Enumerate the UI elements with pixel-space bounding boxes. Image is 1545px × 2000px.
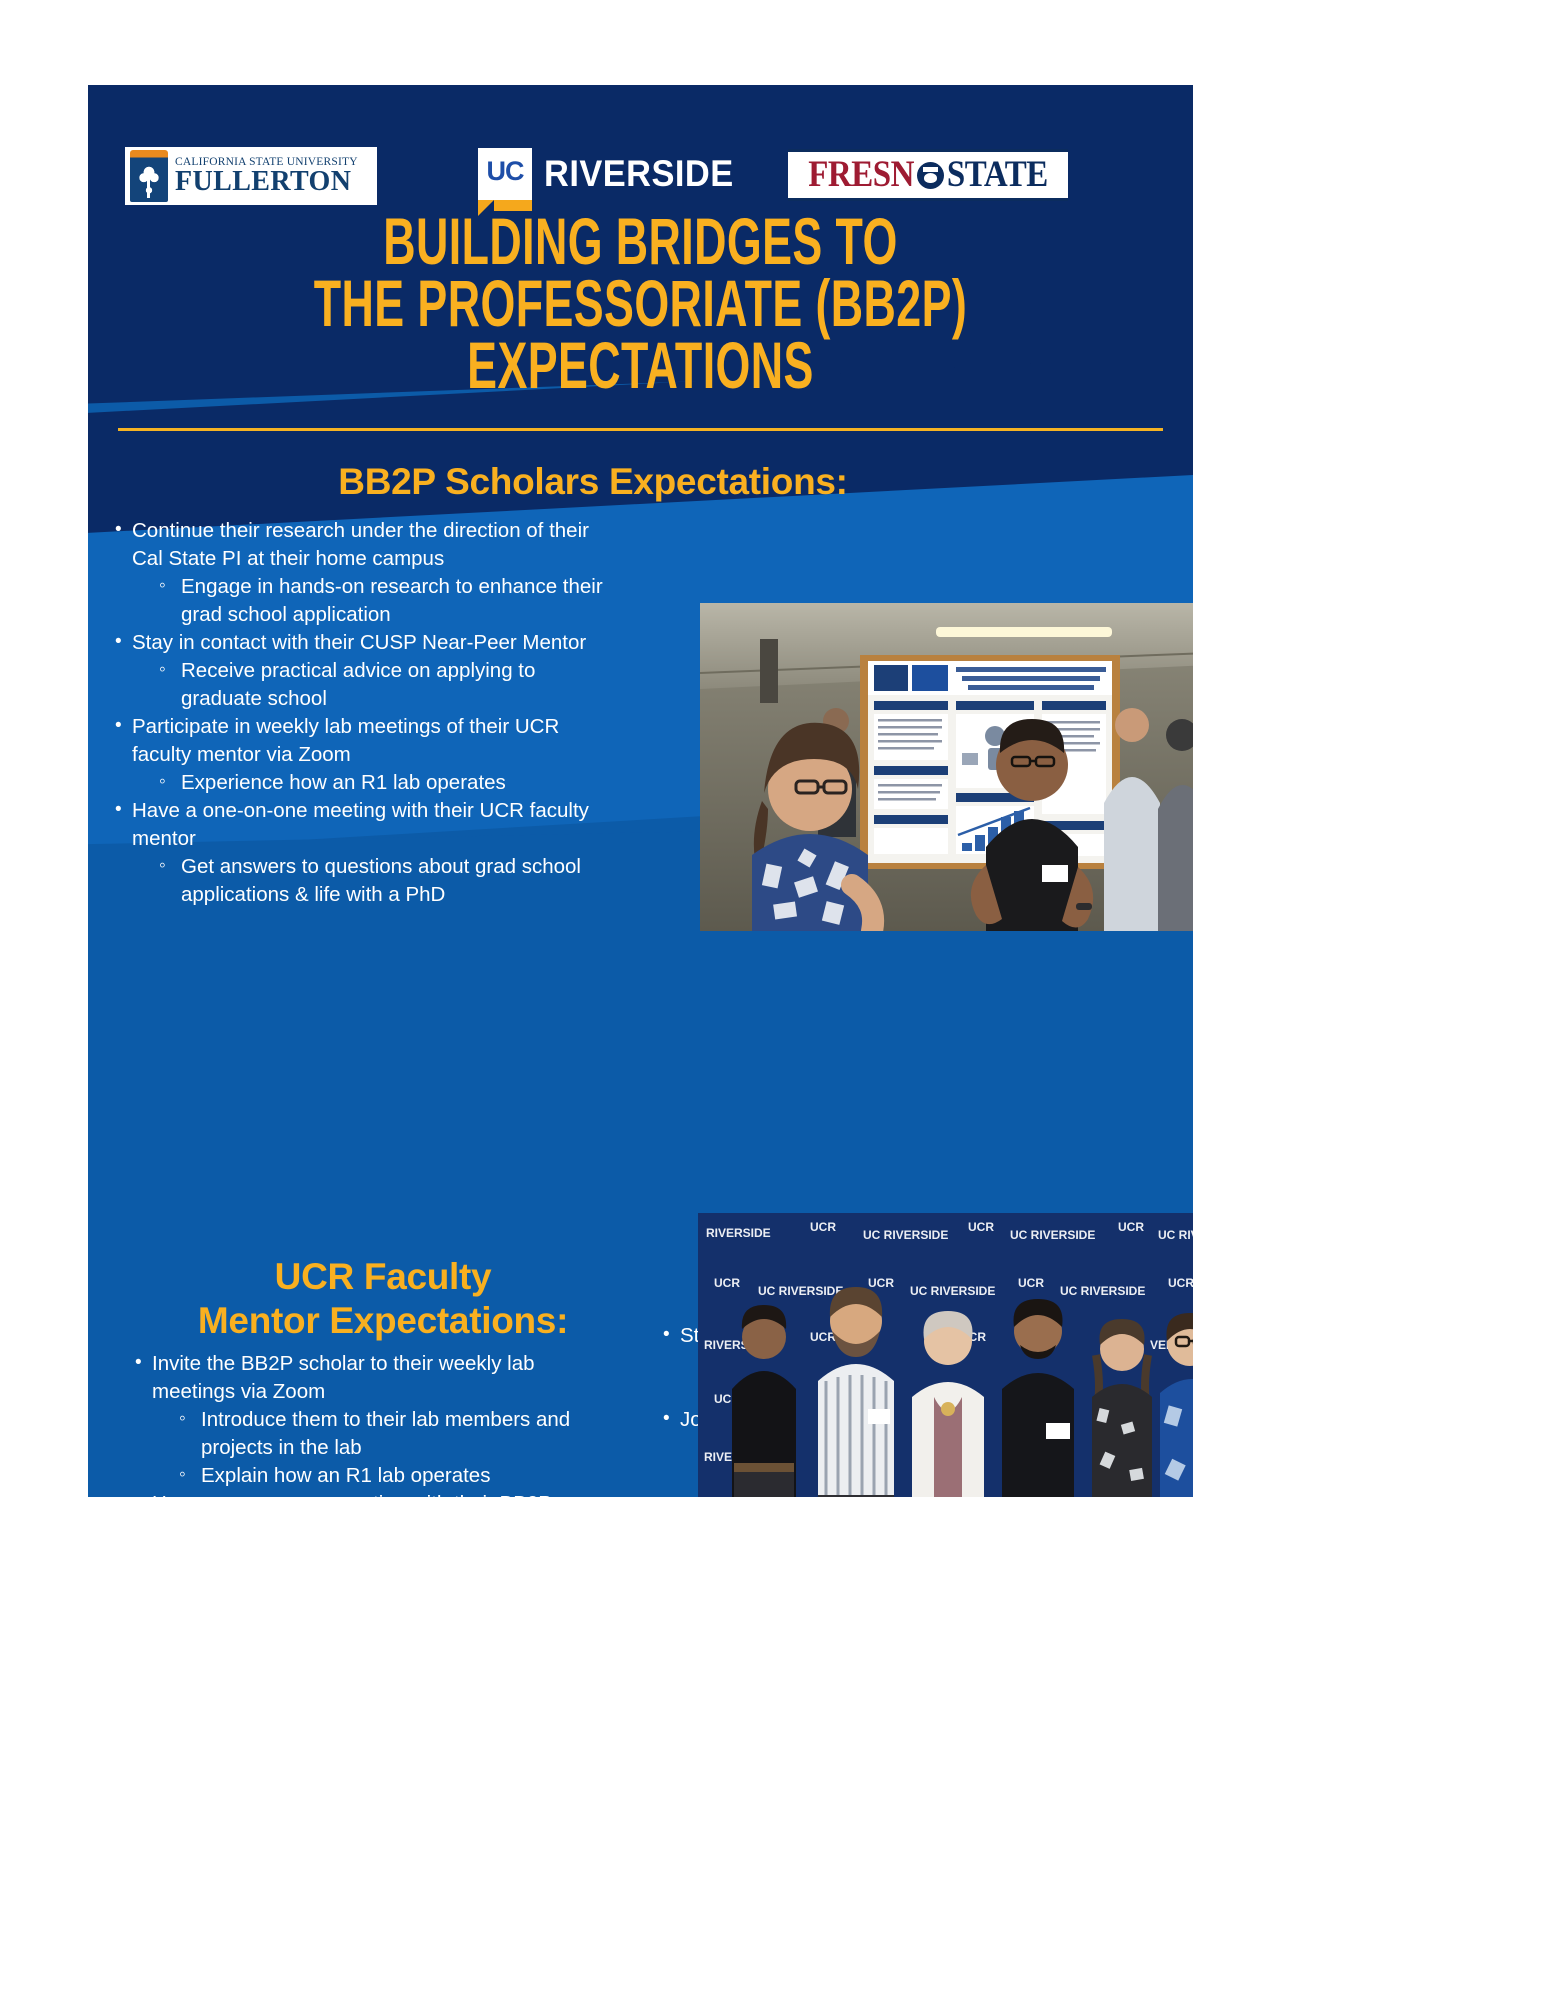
list-item-text: Participate in weekly lab meetings of th… xyxy=(132,715,559,766)
list-item-text: Stay in contact with their CUSP Near-Pee… xyxy=(132,631,586,654)
svg-text:UC RIVERSIDE: UC RIVERSIDE xyxy=(758,1284,843,1298)
photo-group-backdrop: RIVERSIDE UCR UC RIVERSIDE UCR UC RIVERS… xyxy=(698,1213,1193,1497)
list-item: Continue their research under the direct… xyxy=(110,517,622,629)
sub-bullet-list: Introduce them to their lab members and … xyxy=(174,1406,600,1490)
fresno-text-before: FRESN xyxy=(808,154,914,195)
logo-cal-state-fullerton: CALIFORNIA STATE UNIVERSITY FULLERTON xyxy=(125,147,377,205)
svg-text:UC RIVERSIDE: UC RIVERSIDE xyxy=(910,1284,995,1298)
svg-text:RIVERSIDE: RIVERSIDE xyxy=(706,1226,771,1240)
list-item-text: Have a one-on-one meeting with their UCR… xyxy=(132,799,589,850)
list-item: Get answers to questions about grad scho… xyxy=(154,853,622,909)
list-item: Invite the BB2P scholar to their weekly … xyxy=(130,1350,600,1490)
fresno-text-after: STATE xyxy=(947,154,1048,195)
svg-text:UC RIVERSIDE: UC RIVERSIDE xyxy=(863,1228,948,1242)
svg-text:UC RIVERSIDE: UC RIVERSIDE xyxy=(1158,1228,1193,1242)
csuf-wordmark: CALIFORNIA STATE UNIVERSITY FULLERTON xyxy=(175,156,358,196)
sub-bullet-list: Experience how an R1 lab operates xyxy=(154,769,622,797)
list-item: Explain how an R1 lab operates xyxy=(174,1462,600,1490)
list-item: Stay in contact with their CUSP Near-Pee… xyxy=(110,629,622,713)
svg-text:UCR: UCR xyxy=(868,1276,894,1290)
csuf-tree-crest-icon xyxy=(130,150,168,202)
poster-canvas: CALIFORNIA STATE UNIVERSITY FULLERTON UC… xyxy=(88,85,1193,1497)
uc-bookmark-icon: UC xyxy=(478,148,532,200)
logo-row: CALIFORNIA STATE UNIVERSITY FULLERTON UC… xyxy=(88,115,1193,195)
poster-session-illustration xyxy=(700,603,1193,931)
svg-text:UC RIVERSIDE: UC RIVERSIDE xyxy=(1060,1284,1145,1298)
list-item: Engage in hands-on research to enhance t… xyxy=(154,573,622,629)
csuf-bottom-text: FULLERTON xyxy=(175,168,358,196)
list-item-text: Have a one-on-one meeting with their BB2… xyxy=(152,1492,552,1497)
svg-text:UCR: UCR xyxy=(1168,1276,1193,1290)
sub-bullet-list: Receive practical advice on applying to … xyxy=(154,657,622,713)
group-photo-illustration: RIVERSIDE UCR UC RIVERSIDE UCR UC RIVERS… xyxy=(698,1213,1193,1497)
svg-text:UCR: UCR xyxy=(810,1220,836,1234)
bulldog-paw-icon xyxy=(917,162,944,189)
svg-text:UCR: UCR xyxy=(714,1276,740,1290)
svg-text:UCR: UCR xyxy=(1018,1276,1044,1290)
gold-divider-rule xyxy=(118,428,1163,431)
faculty-bullet-list: Invite the BB2P scholar to their weekly … xyxy=(130,1350,600,1497)
logo-uc-riverside: UC RIVERSIDE xyxy=(478,148,748,204)
list-item: Experience how an R1 lab operates xyxy=(154,769,622,797)
list-item: Have a one-on-one meeting with their UCR… xyxy=(110,797,622,909)
list-item: Receive practical advice on applying to … xyxy=(154,657,622,713)
faculty-section-heading: UCR Faculty Mentor Expectations: xyxy=(148,1255,618,1343)
title-line-3: EXPECTATIONS xyxy=(199,329,1083,402)
scholars-bullet-list: Continue their research under the direct… xyxy=(110,517,622,909)
svg-text:UC RIVERSIDE: UC RIVERSIDE xyxy=(1010,1228,1095,1242)
scholars-section-heading: BB2P Scholars Expectations: xyxy=(88,460,1098,504)
faculty-heading-line-2: Mentor Expectations: xyxy=(148,1299,618,1343)
list-item: Introduce them to their lab members and … xyxy=(174,1406,600,1462)
list-item-text: Invite the BB2P scholar to their weekly … xyxy=(152,1352,535,1403)
sub-bullet-list: Engage in hands-on research to enhance t… xyxy=(154,573,622,629)
logo-fresno-state: FRESN STATE xyxy=(788,149,1068,201)
faculty-heading-line-1: UCR Faculty xyxy=(148,1255,618,1299)
svg-text:UCR: UCR xyxy=(1118,1220,1144,1234)
sub-bullet-list: Get answers to questions about grad scho… xyxy=(154,853,622,909)
poster-title: BUILDING BRIDGES TO THE PROFESSORIATE (B… xyxy=(88,205,1193,391)
photo-poster-session xyxy=(700,603,1193,931)
list-item: Participate in weekly lab meetings of th… xyxy=(110,713,622,797)
list-item: Have a one-on-one meeting with their BB2… xyxy=(130,1490,600,1497)
ucr-mark-text: UC xyxy=(487,156,524,187)
svg-text:UCR: UCR xyxy=(968,1220,994,1234)
ucr-wordmark-text: RIVERSIDE xyxy=(544,153,734,195)
list-item-text: Continue their research under the direct… xyxy=(132,519,589,570)
